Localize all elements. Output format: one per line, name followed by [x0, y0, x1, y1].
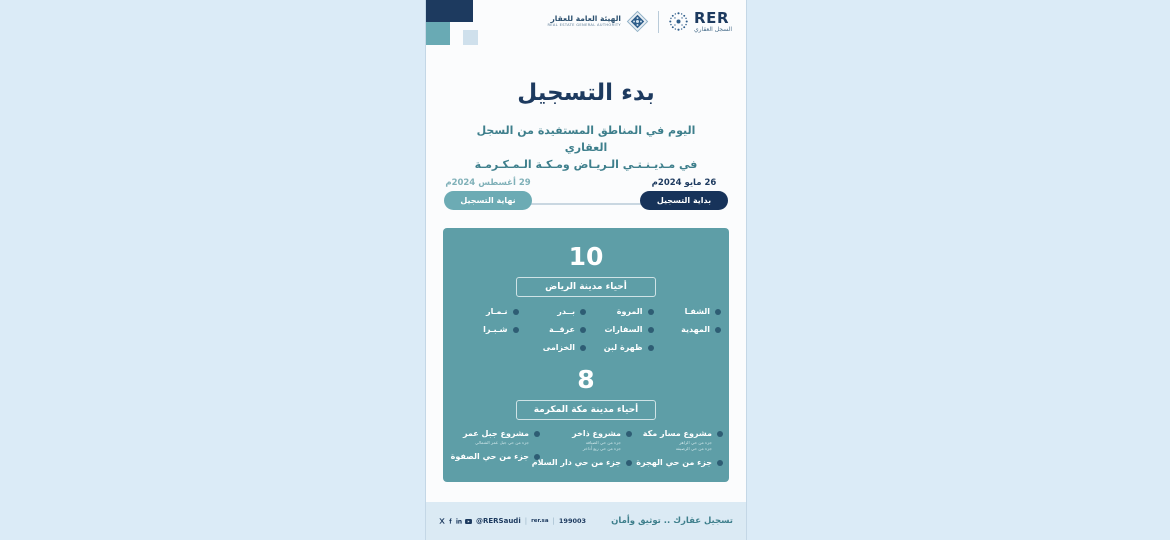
- bullet-icon: [717, 431, 723, 437]
- footer-separator-2: |: [553, 517, 555, 525]
- district-name: عرقــة: [549, 325, 575, 334]
- facebook-icon[interactable]: [448, 518, 453, 524]
- project-detail-1: جزء من حي الضيافة: [572, 440, 621, 445]
- makkah-label: أحياء مدينة مكة المكرمة: [516, 400, 656, 420]
- riyadh-label: أحياء مدينة الرياض: [516, 277, 656, 297]
- bullet-icon: [715, 327, 721, 333]
- timeline-end: 29 أغسطس 2024م نهاية التسجيل: [444, 178, 532, 210]
- project-detail-2: جزء من حي الرصيفة: [643, 446, 712, 451]
- district-name: المهدية: [681, 325, 710, 334]
- project-detail-2: جزء من حي ريع أذاخر: [572, 446, 621, 451]
- list-item: الخزامى: [519, 342, 587, 353]
- list-item: جزء من حي دار السلام: [540, 458, 632, 468]
- project-detail-1: جزء من حي الزاهر: [643, 440, 712, 445]
- project-name: مشروع جبل عمر: [463, 429, 529, 439]
- logo-divider: [658, 11, 659, 33]
- decorative-square-teal: [426, 22, 450, 45]
- x-icon[interactable]: [439, 518, 445, 524]
- makkah-column-1: مشروع جبل عمر جزء من حي جبل عمر الشمالي …: [449, 429, 540, 468]
- decorative-square-pale: [463, 30, 478, 45]
- bullet-icon: [648, 309, 654, 315]
- registration-timeline: 26 مايو 2024م بداية التسجيل 29 أغسطس 202…: [444, 178, 728, 220]
- rer-name-ar: السجل العقاري: [694, 27, 732, 33]
- makkah-column-2: مشروع ذاخر جزء من حي الضيافة جزء من حي ر…: [540, 429, 632, 468]
- decorative-square-navy: [426, 0, 473, 22]
- timeline-end-date: 29 أغسطس 2024م: [444, 178, 532, 188]
- subtitle-line-2: في مـديـنـتـي الـريـاض ومـكـة الـمـكـرمـ…: [456, 156, 716, 173]
- rega-diamond-icon: [626, 10, 649, 33]
- logo-bar: الهيئة العامة للعقار REAL ESTATE GENERAL…: [547, 10, 732, 33]
- registration-poster: الهيئة العامة للعقار REAL ESTATE GENERAL…: [425, 0, 747, 540]
- project-detail-1: جزء من حي جبل عمر الشمالي: [463, 440, 529, 445]
- district-name: جزء من حي الصفوة: [451, 452, 529, 462]
- rer-logo: RER السجل العقاري: [668, 11, 732, 33]
- makkah-district-grid: مشروع مسار مكة جزء من حي الزاهر جزء من ح…: [443, 429, 729, 468]
- rega-name-ar: الهيئة العامة للعقار: [550, 15, 621, 23]
- district-name: الشفـا: [685, 307, 710, 316]
- list-item: المهدية: [654, 324, 722, 335]
- rega-logo: الهيئة العامة للعقار REAL ESTATE GENERAL…: [547, 10, 649, 33]
- timeline-start-date: 26 مايو 2024م: [640, 178, 728, 188]
- district-name: شـبـرا: [483, 325, 507, 334]
- page-subtitle: اليوم في المناطق المستفيدة من السجل العق…: [456, 122, 716, 173]
- districts-panel: 10 أحياء مدينة الرياض الشفـا المهدية الم…: [443, 228, 729, 482]
- timeline-start: 26 مايو 2024م بداية التسجيل: [640, 178, 728, 210]
- footer-contact: @RERSaudi | rer.sa | 199003: [439, 517, 586, 525]
- list-item: بــدر: [519, 306, 587, 317]
- rer-dot-circle-icon: [668, 11, 689, 32]
- bullet-icon: [534, 454, 540, 460]
- rer-name-en: RER: [694, 11, 729, 26]
- list-item: مشروع جبل عمر جزء من حي جبل عمر الشمالي: [449, 429, 540, 446]
- riyadh-column-2: بــدر عرقــة الخزامى: [519, 306, 587, 353]
- project-name: مشروع مسار مكة: [643, 429, 712, 439]
- district-name: بــدر: [557, 307, 575, 316]
- list-item: المروة: [586, 306, 654, 317]
- list-item: مشروع ذاخر جزء من حي الضيافة جزء من حي ر…: [540, 429, 632, 452]
- bullet-icon: [717, 460, 723, 466]
- makkah-column-3: مشروع مسار مكة جزء من حي الزاهر جزء من ح…: [632, 429, 723, 468]
- list-item: جزء من حي الصفوة: [449, 452, 540, 462]
- list-item: شـبـرا: [451, 324, 519, 335]
- linkedin-icon[interactable]: [456, 518, 462, 524]
- page-title: بدء التسجيل: [426, 80, 746, 106]
- riyadh-column-3: المروة السفارات ظهرة لبن: [586, 306, 654, 353]
- timeline-end-label: نهاية التسجيل: [444, 191, 532, 210]
- list-item: السفارات: [586, 324, 654, 335]
- screenshot-canvas: الهيئة العامة للعقار REAL ESTATE GENERAL…: [0, 0, 1170, 540]
- riyadh-column-1: نـمـار شـبـرا: [451, 306, 519, 353]
- district-name: السفارات: [604, 325, 642, 334]
- bullet-icon: [580, 345, 586, 351]
- bullet-icon: [534, 431, 540, 437]
- bullet-icon: [626, 431, 632, 437]
- subtitle-line-1: اليوم في المناطق المستفيدة من السجل العق…: [456, 122, 716, 156]
- bullet-icon: [513, 327, 519, 333]
- district-name: نـمـار: [486, 307, 507, 316]
- poster-footer: تسجيل عقارك .. توثيق وأمان @RERSaudi | r…: [426, 502, 746, 540]
- bullet-icon: [580, 327, 586, 333]
- list-item: الشفـا: [654, 306, 722, 317]
- timeline-connector: [518, 203, 654, 205]
- timeline-start-label: بداية التسجيل: [640, 191, 728, 210]
- bullet-icon: [626, 460, 632, 466]
- district-name: المروة: [617, 307, 643, 316]
- bullet-icon: [648, 345, 654, 351]
- footer-handle[interactable]: @RERSaudi: [476, 517, 521, 525]
- list-item: ظهرة لبن: [586, 342, 654, 353]
- makkah-count: 8: [443, 367, 729, 392]
- footer-website[interactable]: rer.sa: [531, 518, 548, 524]
- bullet-icon: [513, 309, 519, 315]
- list-item: عرقــة: [519, 324, 587, 335]
- youtube-icon[interactable]: [465, 519, 472, 524]
- district-name: جزء من حي دار السلام: [532, 458, 621, 468]
- district-name: الخزامى: [543, 343, 575, 352]
- bullet-icon: [715, 309, 721, 315]
- bullet-icon: [580, 309, 586, 315]
- footer-separator-1: |: [525, 517, 527, 525]
- riyadh-column-4: الشفـا المهدية: [654, 306, 722, 353]
- district-name: ظهرة لبن: [604, 343, 643, 352]
- social-icons: [439, 518, 472, 524]
- footer-phone[interactable]: 199003: [559, 517, 586, 525]
- project-name: مشروع ذاخر: [572, 429, 621, 439]
- list-item: نـمـار: [451, 306, 519, 317]
- riyadh-count: 10: [443, 244, 729, 269]
- footer-tagline: تسجيل عقارك .. توثيق وأمان: [611, 516, 733, 526]
- riyadh-district-grid: الشفـا المهدية المروة السفارات ظهرة لبن …: [443, 306, 729, 353]
- list-item: جزء من حي الهجرة: [632, 458, 723, 468]
- district-name: جزء من حي الهجرة: [636, 458, 712, 468]
- rega-name-en: REAL ESTATE GENERAL AUTHORITY: [547, 24, 621, 28]
- list-item: مشروع مسار مكة جزء من حي الزاهر جزء من ح…: [632, 429, 723, 452]
- bullet-icon: [648, 327, 654, 333]
